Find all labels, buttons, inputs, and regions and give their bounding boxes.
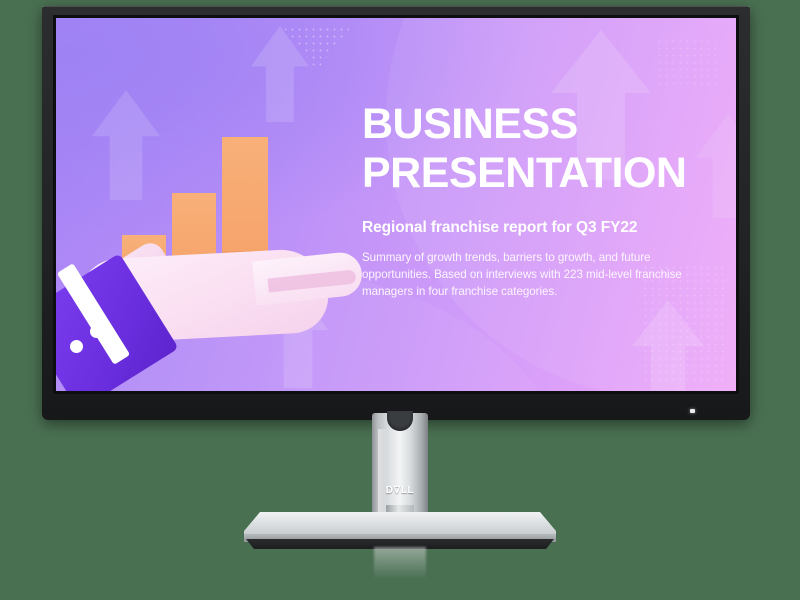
slide-text-block: BUSINESS PRESENTATION Regional franchise…: [362, 100, 712, 301]
dot-pattern-decoration: [656, 38, 716, 86]
scene-root: BUSINESS PRESENTATION Regional franchise…: [0, 0, 800, 600]
dell-logo: D∇LL: [372, 485, 428, 496]
slide-title-line-2: PRESENTATION: [362, 149, 686, 197]
sleeve-button: [70, 340, 83, 353]
floor-reflection: [374, 547, 426, 579]
slide-title: BUSINESS PRESENTATION: [362, 100, 712, 197]
slide-body-text: Summary of growth trends, barriers to gr…: [362, 250, 700, 300]
slide-title-line-1: BUSINESS: [362, 100, 578, 148]
sleeve-button: [90, 325, 103, 338]
monitor-stand-base: [244, 512, 556, 548]
power-led-indicator[interactable]: [690, 409, 695, 413]
cable-management-slot: [387, 411, 413, 431]
monitor-inner-bezel: BUSINESS PRESENTATION Regional franchise…: [53, 15, 739, 394]
dell-monitor: BUSINESS PRESENTATION Regional franchise…: [42, 6, 750, 420]
slide-subtitle: Regional franchise report for Q3 FY22: [362, 219, 712, 237]
monitor-screen[interactable]: BUSINESS PRESENTATION Regional franchise…: [56, 18, 736, 391]
